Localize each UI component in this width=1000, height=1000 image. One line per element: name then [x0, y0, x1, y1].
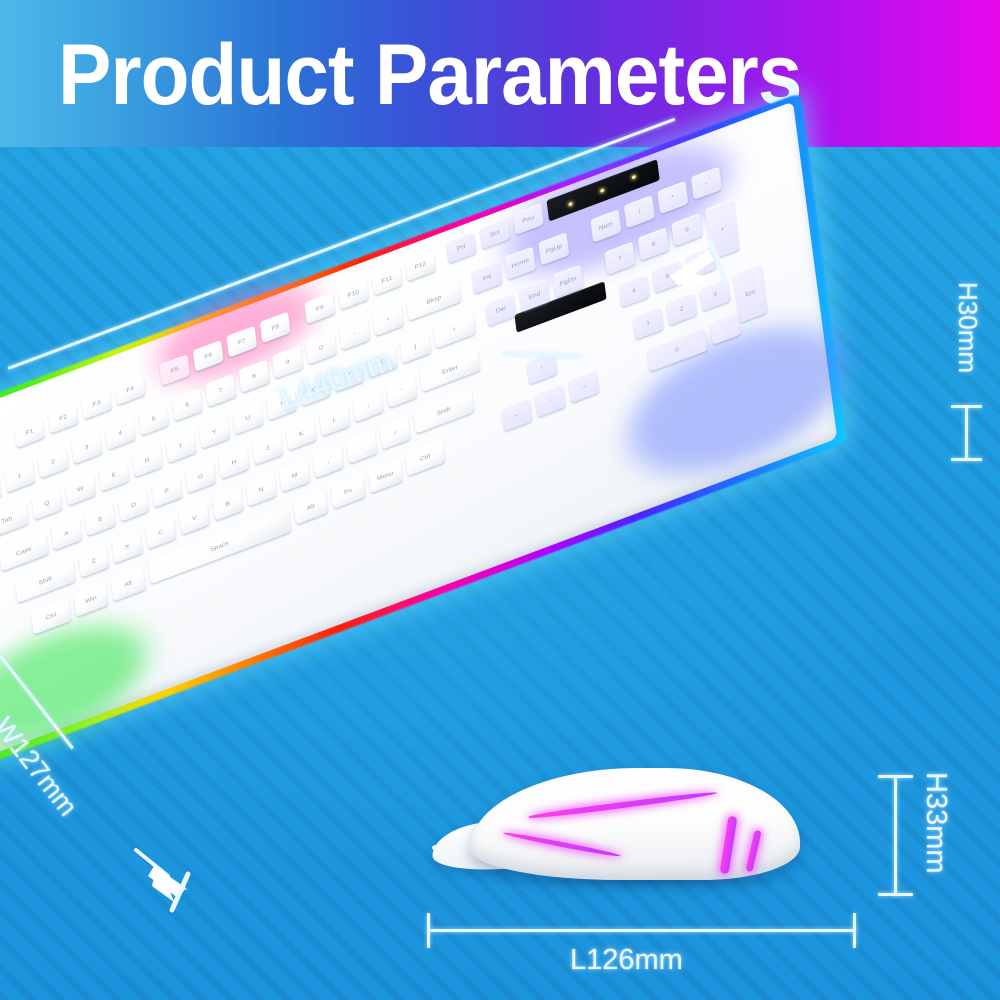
key-pageup: PgUp — [538, 232, 569, 265]
key-shift-right: Shift — [413, 389, 474, 434]
key-f12: F12 — [405, 250, 436, 282]
key-f3: F3 — [81, 388, 112, 420]
page-title: Product Parameters — [58, 30, 801, 120]
mouse-height-dimension-line — [894, 776, 897, 896]
numpad-1: 1 — [633, 306, 664, 339]
key-delete: Del — [485, 293, 516, 326]
key-h: H — [218, 446, 249, 479]
key-tab: Tab — [0, 501, 29, 539]
keyboard-width-arrowhead — [134, 846, 214, 910]
key-f8: F8 — [260, 312, 291, 344]
mouse-length-cap-right — [853, 913, 856, 948]
key-alt-right: Alt — [293, 490, 328, 525]
key-home: Home — [505, 246, 536, 279]
mouse-length-cap-left — [427, 913, 430, 948]
mouse-height-label: H33mm — [922, 772, 952, 874]
numpad-subtract: - — [691, 167, 722, 200]
product-parameters-infographic: Product Parameters Esc F1 F2 F3 F4 — [0, 0, 1000, 1000]
key-u: U — [232, 401, 263, 434]
key-f9: F9 — [304, 292, 335, 324]
key-7: 7 — [205, 374, 236, 407]
key-b: B — [212, 487, 243, 520]
key-d: D — [118, 488, 149, 521]
key-arrow-down: ↓ — [535, 384, 566, 417]
key-l: L — [319, 403, 350, 436]
key-enter: Enter — [419, 347, 480, 392]
key-f5: F5 — [159, 354, 190, 386]
key-f10: F10 — [338, 278, 369, 310]
key-arrow-left: ← — [501, 398, 532, 431]
key-period: . — [346, 430, 377, 463]
numpad-multiply: * — [657, 181, 688, 214]
key-pause: Pau — [513, 203, 544, 235]
keyboard-height-cap-top — [951, 405, 982, 408]
key-backslash: \ — [433, 311, 475, 349]
key-equal: + — [373, 303, 404, 336]
key-6: 6 — [172, 388, 203, 421]
numpad-numlock: Num — [590, 209, 621, 242]
key-quote: ' — [386, 375, 417, 408]
key-1: 1 — [4, 459, 35, 492]
key-shift-left: Shift — [15, 559, 76, 604]
key-r: R — [132, 444, 163, 477]
key-q: Q — [31, 487, 62, 520]
key-j: J — [252, 431, 283, 464]
key-arrow-right: → — [568, 370, 599, 403]
mouse-height-cap-top — [878, 775, 913, 778]
key-capslock: Caps — [0, 531, 49, 571]
numpad-8: 8 — [638, 227, 669, 260]
key-c: C — [145, 516, 176, 549]
mouse-length-dimension-line — [428, 929, 856, 932]
key-backspace: Bksp — [406, 279, 461, 321]
key-tilde: ~ — [0, 474, 2, 507]
numpad-decimal: . — [710, 312, 741, 345]
numpad-4: 4 — [618, 274, 649, 307]
key-f11: F11 — [371, 264, 402, 296]
key-slash: / — [380, 416, 411, 449]
key-w: W — [65, 472, 96, 505]
key-f2: F2 — [48, 402, 79, 434]
key-9: 9 — [272, 345, 303, 378]
key-m: M — [279, 459, 310, 492]
key-menu: Menu — [368, 459, 403, 494]
key-semicolon: ; — [353, 389, 384, 422]
key-t: T — [165, 430, 196, 463]
key-v: V — [179, 502, 210, 535]
key-g: G — [185, 460, 216, 493]
key-minus: - — [339, 317, 370, 350]
key-f4: F4 — [115, 374, 146, 406]
key-insert: Ins — [471, 261, 502, 294]
key-s: S — [84, 503, 115, 536]
key-alt-left: Alt — [111, 567, 146, 602]
key-bracket-right: ] — [400, 330, 431, 363]
key-a: A — [51, 517, 82, 550]
key-f: F — [151, 474, 182, 507]
key-x: X — [112, 530, 143, 563]
key-scroll-lock: Scr — [479, 218, 510, 250]
key-win-left: Win — [73, 582, 108, 617]
key-comma: , — [313, 445, 344, 478]
numpad-0: 0 — [647, 327, 708, 372]
key-print-screen: Prt — [446, 232, 477, 264]
key-z: Z — [78, 544, 109, 577]
key-n: N — [246, 473, 277, 506]
keyboard-length-arrowhead — [668, 236, 738, 298]
key-y: Y — [199, 416, 230, 449]
key-f6: F6 — [193, 340, 224, 372]
numpad-7: 7 — [604, 242, 635, 275]
key-8: 8 — [239, 360, 270, 393]
key-ctrl-right: Ctrl — [405, 439, 445, 476]
keyboard-height-label: H30mm — [957, 282, 983, 373]
key-k: K — [285, 417, 316, 450]
key-e: E — [98, 458, 129, 491]
key-fn: Fn — [331, 474, 366, 509]
key-4: 4 — [105, 417, 136, 450]
key-5: 5 — [138, 402, 169, 435]
key-2: 2 — [38, 445, 69, 478]
keyboard-height-cap-bottom — [951, 458, 982, 461]
key-f7: F7 — [226, 326, 257, 358]
gaming-mouse — [432, 756, 832, 902]
keyboard-height-dimension-line — [965, 406, 968, 460]
key-3: 3 — [71, 431, 102, 464]
key-0: 0 — [306, 331, 337, 364]
key-f1: F1 — [14, 416, 45, 448]
numpad-divide: / — [624, 195, 655, 228]
mouse-height-cap-bottom — [878, 893, 913, 896]
key-ctrl-left: Ctrl — [31, 598, 71, 635]
mouse-length-label: L126mm — [570, 944, 683, 977]
